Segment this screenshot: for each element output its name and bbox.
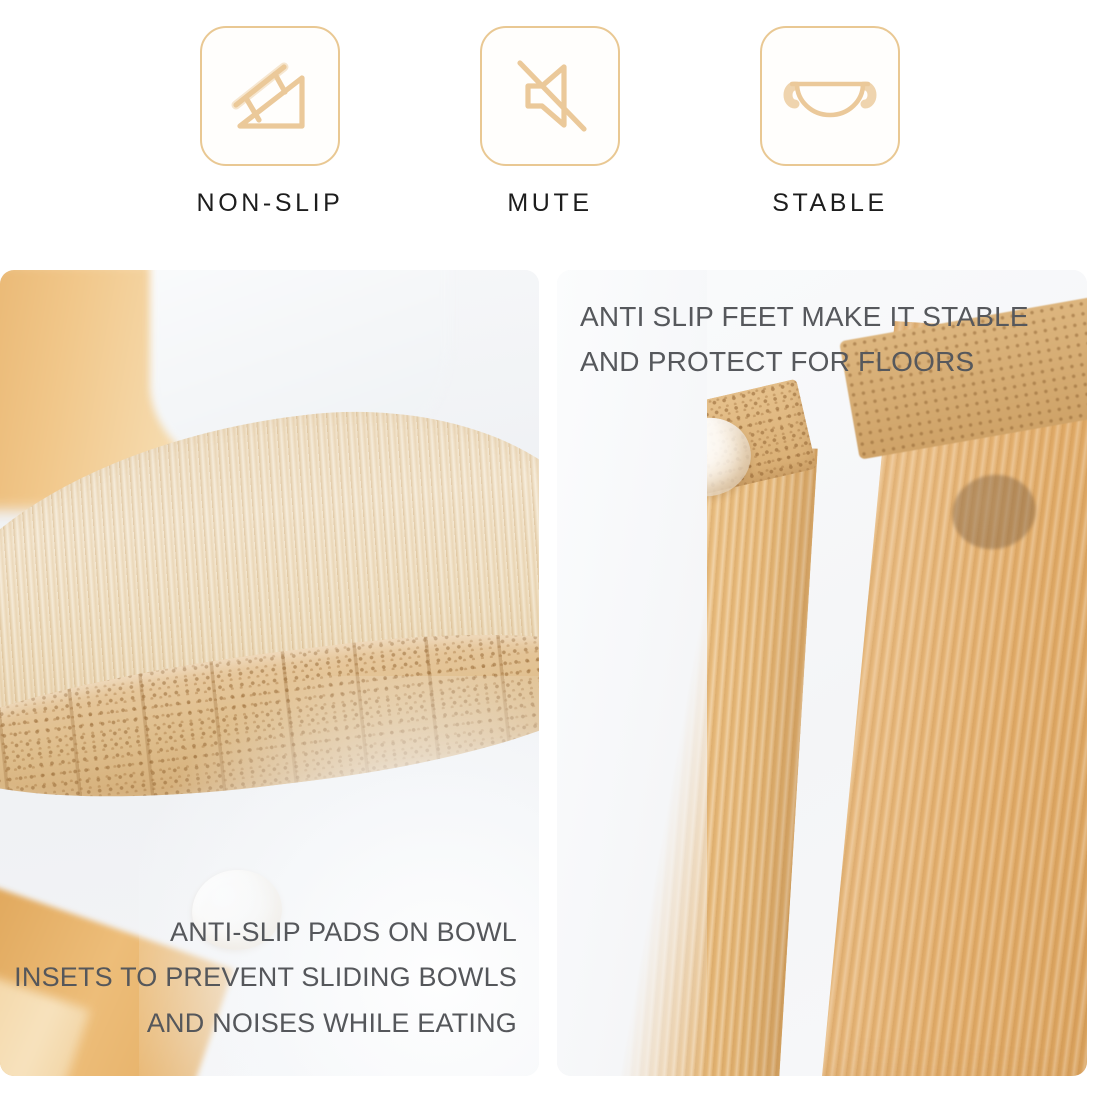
anti-slip-foot-photo xyxy=(557,270,1087,1076)
white-background-left xyxy=(557,270,707,1076)
right-panel-caption: ANTI SLIP FEET MAKE IT STABLE AND PROTEC… xyxy=(580,294,1050,385)
left-caption-line-3: AND NOISES WHILE EATING xyxy=(0,1001,517,1046)
left-caption-line-2: INSETS TO PREVENT SLIDING BOWLS xyxy=(0,955,517,1000)
mute-icon-box xyxy=(480,26,620,166)
right-caption-line-2: AND PROTECT FOR FLOORS xyxy=(580,339,1050,384)
left-caption-line-1: ANTI-SLIP PADS ON BOWL xyxy=(0,910,517,955)
left-photo-panel: ANTI-SLIP PADS ON BOWL INSETS TO PREVENT… xyxy=(0,270,539,1076)
non-slip-ramp-icon xyxy=(222,48,318,144)
feature-row: NON-SLIP MUTE xyxy=(0,0,1100,240)
feature-label-non-slip: NON-SLIP xyxy=(197,189,344,218)
feature-mute: MUTE xyxy=(413,0,688,218)
feature-label-mute: MUTE xyxy=(507,189,592,218)
non-slip-icon-box xyxy=(200,26,340,166)
stable-icon-box xyxy=(760,26,900,166)
left-panel-caption: ANTI-SLIP PADS ON BOWL INSETS TO PREVENT… xyxy=(0,910,517,1046)
right-photo-panel: ANTI SLIP FEET MAKE IT STABLE AND PROTEC… xyxy=(557,270,1087,1076)
right-caption-line-1: ANTI SLIP FEET MAKE IT STABLE xyxy=(580,294,1050,339)
mute-speaker-icon xyxy=(502,48,598,144)
feature-label-stable: STABLE xyxy=(772,189,888,218)
product-infographic: NON-SLIP MUTE xyxy=(0,0,1100,1100)
feature-non-slip: NON-SLIP xyxy=(133,0,408,218)
feature-stable: STABLE xyxy=(693,0,968,218)
stable-bowl-icon xyxy=(782,48,878,144)
